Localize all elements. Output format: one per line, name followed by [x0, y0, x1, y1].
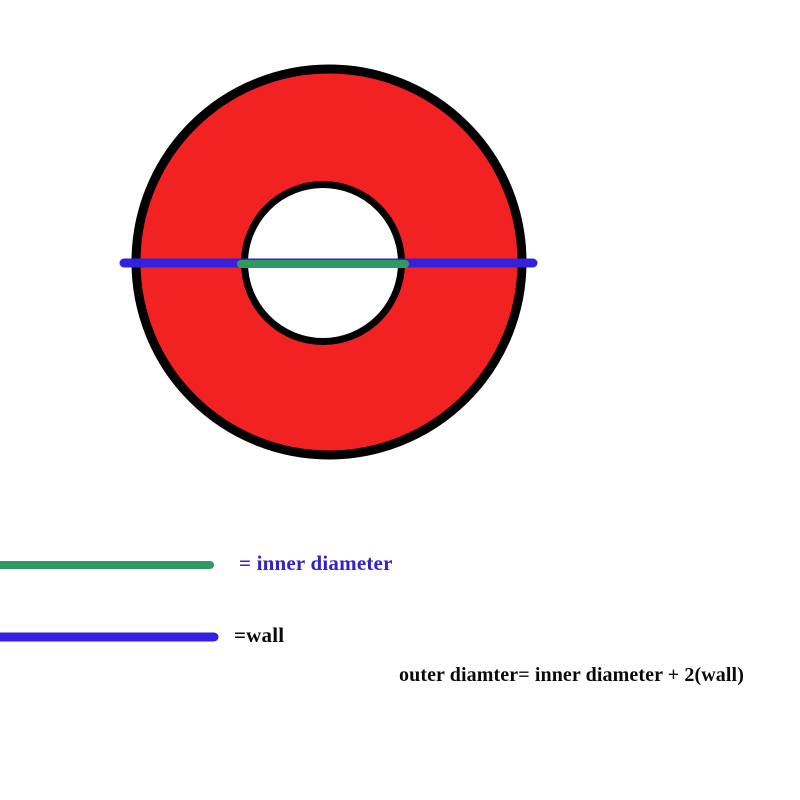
diagram-canvas: = inner diameter =wall outer diamter= in… — [0, 0, 800, 800]
legend-label-inner-diameter: = inner diameter — [239, 553, 393, 574]
legend-label-wall: =wall — [234, 625, 284, 646]
formula-text: outer diamter= inner diameter + 2(wall) — [399, 665, 744, 685]
